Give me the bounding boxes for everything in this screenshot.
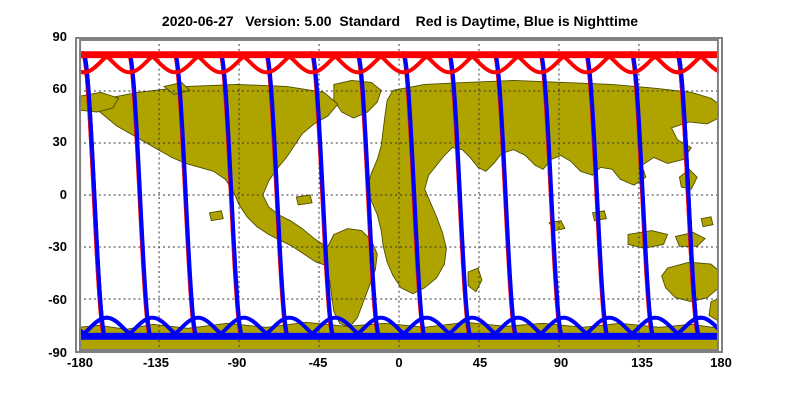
- xtick-m45: -45: [288, 355, 348, 370]
- land-island-d: [296, 195, 312, 205]
- xtick-m90: -90: [207, 355, 267, 370]
- xtick-0: 0: [369, 355, 429, 370]
- map-canvas: [75, 37, 723, 353]
- xtick-90: 90: [531, 355, 591, 370]
- land-island-c: [209, 211, 223, 221]
- xtick-135: 135: [612, 355, 672, 370]
- ytick-90: 90: [21, 29, 67, 44]
- ytick-30: 30: [21, 134, 67, 149]
- xtick-180: 180: [691, 355, 751, 370]
- land-island-e: [701, 217, 713, 227]
- satellite-ground-track-figure: 2020-06-27 Version: 5.00 Standard Red is…: [0, 0, 800, 400]
- ytick-m60: -60: [21, 292, 67, 307]
- xtick-m135: -135: [126, 355, 186, 370]
- ytick-0: 0: [21, 187, 67, 202]
- plot-area: 90 60 30 0 -30 -60 -90 -180 -135 -90 -45…: [75, 37, 723, 353]
- xtick-45: 45: [450, 355, 510, 370]
- ytick-60: 60: [21, 81, 67, 96]
- polar-band-nighttime: [79, 333, 719, 340]
- xtick-m180: -180: [50, 355, 110, 370]
- polar-band-daytime: [79, 51, 719, 58]
- figure-title: 2020-06-27 Version: 5.00 Standard Red is…: [0, 13, 800, 29]
- ytick-m30: -30: [21, 239, 67, 254]
